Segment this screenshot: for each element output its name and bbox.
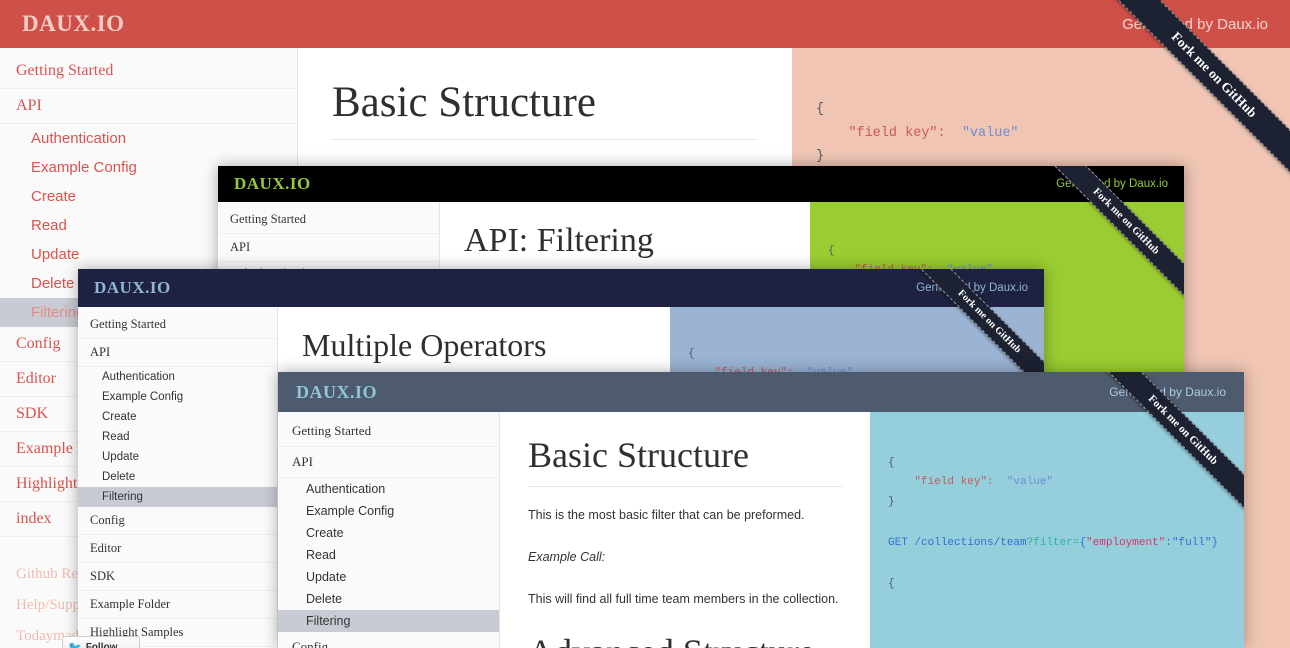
sidebar-item-getting-started[interactable]: Getting Started bbox=[0, 54, 297, 89]
code-field-key: "field key": bbox=[848, 126, 945, 141]
window-body: Getting Started API Authentication Examp… bbox=[278, 412, 1244, 648]
code-brace-open: { bbox=[828, 245, 835, 257]
code-request-field: "employment" bbox=[1086, 537, 1165, 549]
code-query-param: ?filter= bbox=[1027, 537, 1080, 549]
page-title: API: Filtering bbox=[464, 222, 786, 270]
code-request-value: "full" bbox=[1172, 537, 1212, 549]
code-block-request: GET /collections/team?filter={"employmen… bbox=[888, 534, 1244, 553]
site-logo[interactable]: DAUX.IO bbox=[234, 174, 311, 194]
section-title-advanced: Advanced Structure bbox=[528, 631, 842, 648]
code-field-key: "field key": bbox=[914, 476, 993, 488]
code-request-colon: : bbox=[1165, 537, 1172, 549]
sidebar-item-sdk[interactable]: SDK bbox=[78, 563, 277, 591]
sidebar-item-api[interactable]: API bbox=[0, 89, 297, 124]
sidebar-item-filtering[interactable]: Filtering bbox=[278, 610, 499, 632]
code-block-basic: { "field key": "value" } bbox=[816, 98, 1290, 169]
sidebar-item-getting-started[interactable]: Getting Started bbox=[218, 206, 439, 234]
sidebar-item-update[interactable]: Update bbox=[78, 447, 277, 467]
sidebar-item-api[interactable]: API bbox=[218, 234, 439, 262]
site-header: DAUX.IO Generated by Daux.io bbox=[78, 269, 1044, 307]
sidebar-item-read[interactable]: Read bbox=[78, 427, 277, 447]
twitter-follow-label: Follow bbox=[86, 642, 118, 648]
sidebar-item-read[interactable]: Read bbox=[278, 544, 499, 566]
sidebar-item-config[interactable]: Config bbox=[78, 507, 277, 535]
site-logo[interactable]: DAUX.IO bbox=[94, 278, 171, 298]
page-paragraph: This is the most basic filter that can b… bbox=[528, 505, 842, 525]
sidebar-item-delete[interactable]: Delete bbox=[78, 467, 277, 487]
code-field-value: "value" bbox=[1007, 476, 1053, 488]
page-title: Basic Structure bbox=[332, 78, 758, 140]
code-brace-close: } bbox=[816, 149, 824, 164]
site-logo[interactable]: DAUX.IO bbox=[296, 382, 377, 403]
sidebar-navigation[interactable]: Getting Started API Authentication Examp… bbox=[78, 307, 278, 648]
sidebar-navigation[interactable]: Getting Started API Authentication Examp… bbox=[278, 412, 500, 648]
twitter-follow-button[interactable]: 🐦 Follow bbox=[62, 636, 140, 648]
sidebar-item-create[interactable]: Create bbox=[78, 407, 277, 427]
sidebar-item-example-folder[interactable]: Example Folder bbox=[78, 591, 277, 619]
example-call-label: Example Call: bbox=[528, 547, 842, 567]
code-block-advanced: { bbox=[888, 575, 1244, 594]
sidebar-item-filtering[interactable]: Filtering bbox=[78, 487, 277, 507]
sidebar-item-getting-started[interactable]: Getting Started bbox=[278, 416, 499, 447]
sidebar-item-delete[interactable]: Delete bbox=[278, 588, 499, 610]
sidebar-item-authentication[interactable]: Authentication bbox=[78, 367, 277, 387]
code-field-value: "value" bbox=[962, 126, 1019, 141]
code-block-basic: { "field key": "value" } bbox=[888, 454, 1244, 512]
sidebar-item-example-config[interactable]: Example Config bbox=[78, 387, 277, 407]
sidebar-item-getting-started[interactable]: Getting Started bbox=[78, 311, 277, 339]
code-brace-close: } bbox=[888, 496, 895, 508]
code-brace-open: { bbox=[888, 457, 895, 469]
site-header: DAUX.IO Generated by Daux.io bbox=[278, 372, 1244, 412]
screenshot-stage: DAUX.IO Generated by Daux.io Getting Sta… bbox=[0, 0, 1290, 648]
example-call-result: This will find all full time team member… bbox=[528, 589, 842, 609]
code-advanced-brace-open: { bbox=[888, 578, 895, 590]
code-request-brace-close: } bbox=[1212, 537, 1219, 549]
sidebar-item-example-config[interactable]: Example Config bbox=[278, 500, 499, 522]
browser-window-slate[interactable]: DAUX.IO Generated by Daux.io Getting Sta… bbox=[278, 372, 1244, 648]
sidebar-item-create[interactable]: Create bbox=[278, 522, 499, 544]
sidebar-item-authentication[interactable]: Authentication bbox=[0, 124, 297, 153]
sidebar-item-update[interactable]: Update bbox=[278, 566, 499, 588]
page-title: Basic Structure bbox=[528, 434, 842, 487]
code-brace-open: { bbox=[688, 348, 695, 360]
sidebar-item-editor[interactable]: Editor bbox=[78, 535, 277, 563]
sidebar-item-config[interactable]: Config bbox=[278, 632, 499, 648]
site-header: DAUX.IO Generated by Daux.io bbox=[218, 166, 1184, 202]
main-content: Basic Structure This is the most basic f… bbox=[500, 412, 870, 648]
sidebar-item-api[interactable]: API bbox=[278, 447, 499, 478]
code-http-method: GET bbox=[888, 537, 908, 549]
sidebar-item-api[interactable]: API bbox=[78, 339, 277, 367]
code-brace-open: { bbox=[816, 102, 824, 117]
sidebar-item-authentication[interactable]: Authentication bbox=[278, 478, 499, 500]
code-request-path: /collections/team bbox=[908, 537, 1027, 549]
twitter-bird-icon: 🐦 bbox=[68, 641, 82, 648]
site-header: DAUX.IO Generated by Daux.io bbox=[0, 0, 1290, 48]
site-logo[interactable]: DAUX.IO bbox=[22, 11, 125, 37]
